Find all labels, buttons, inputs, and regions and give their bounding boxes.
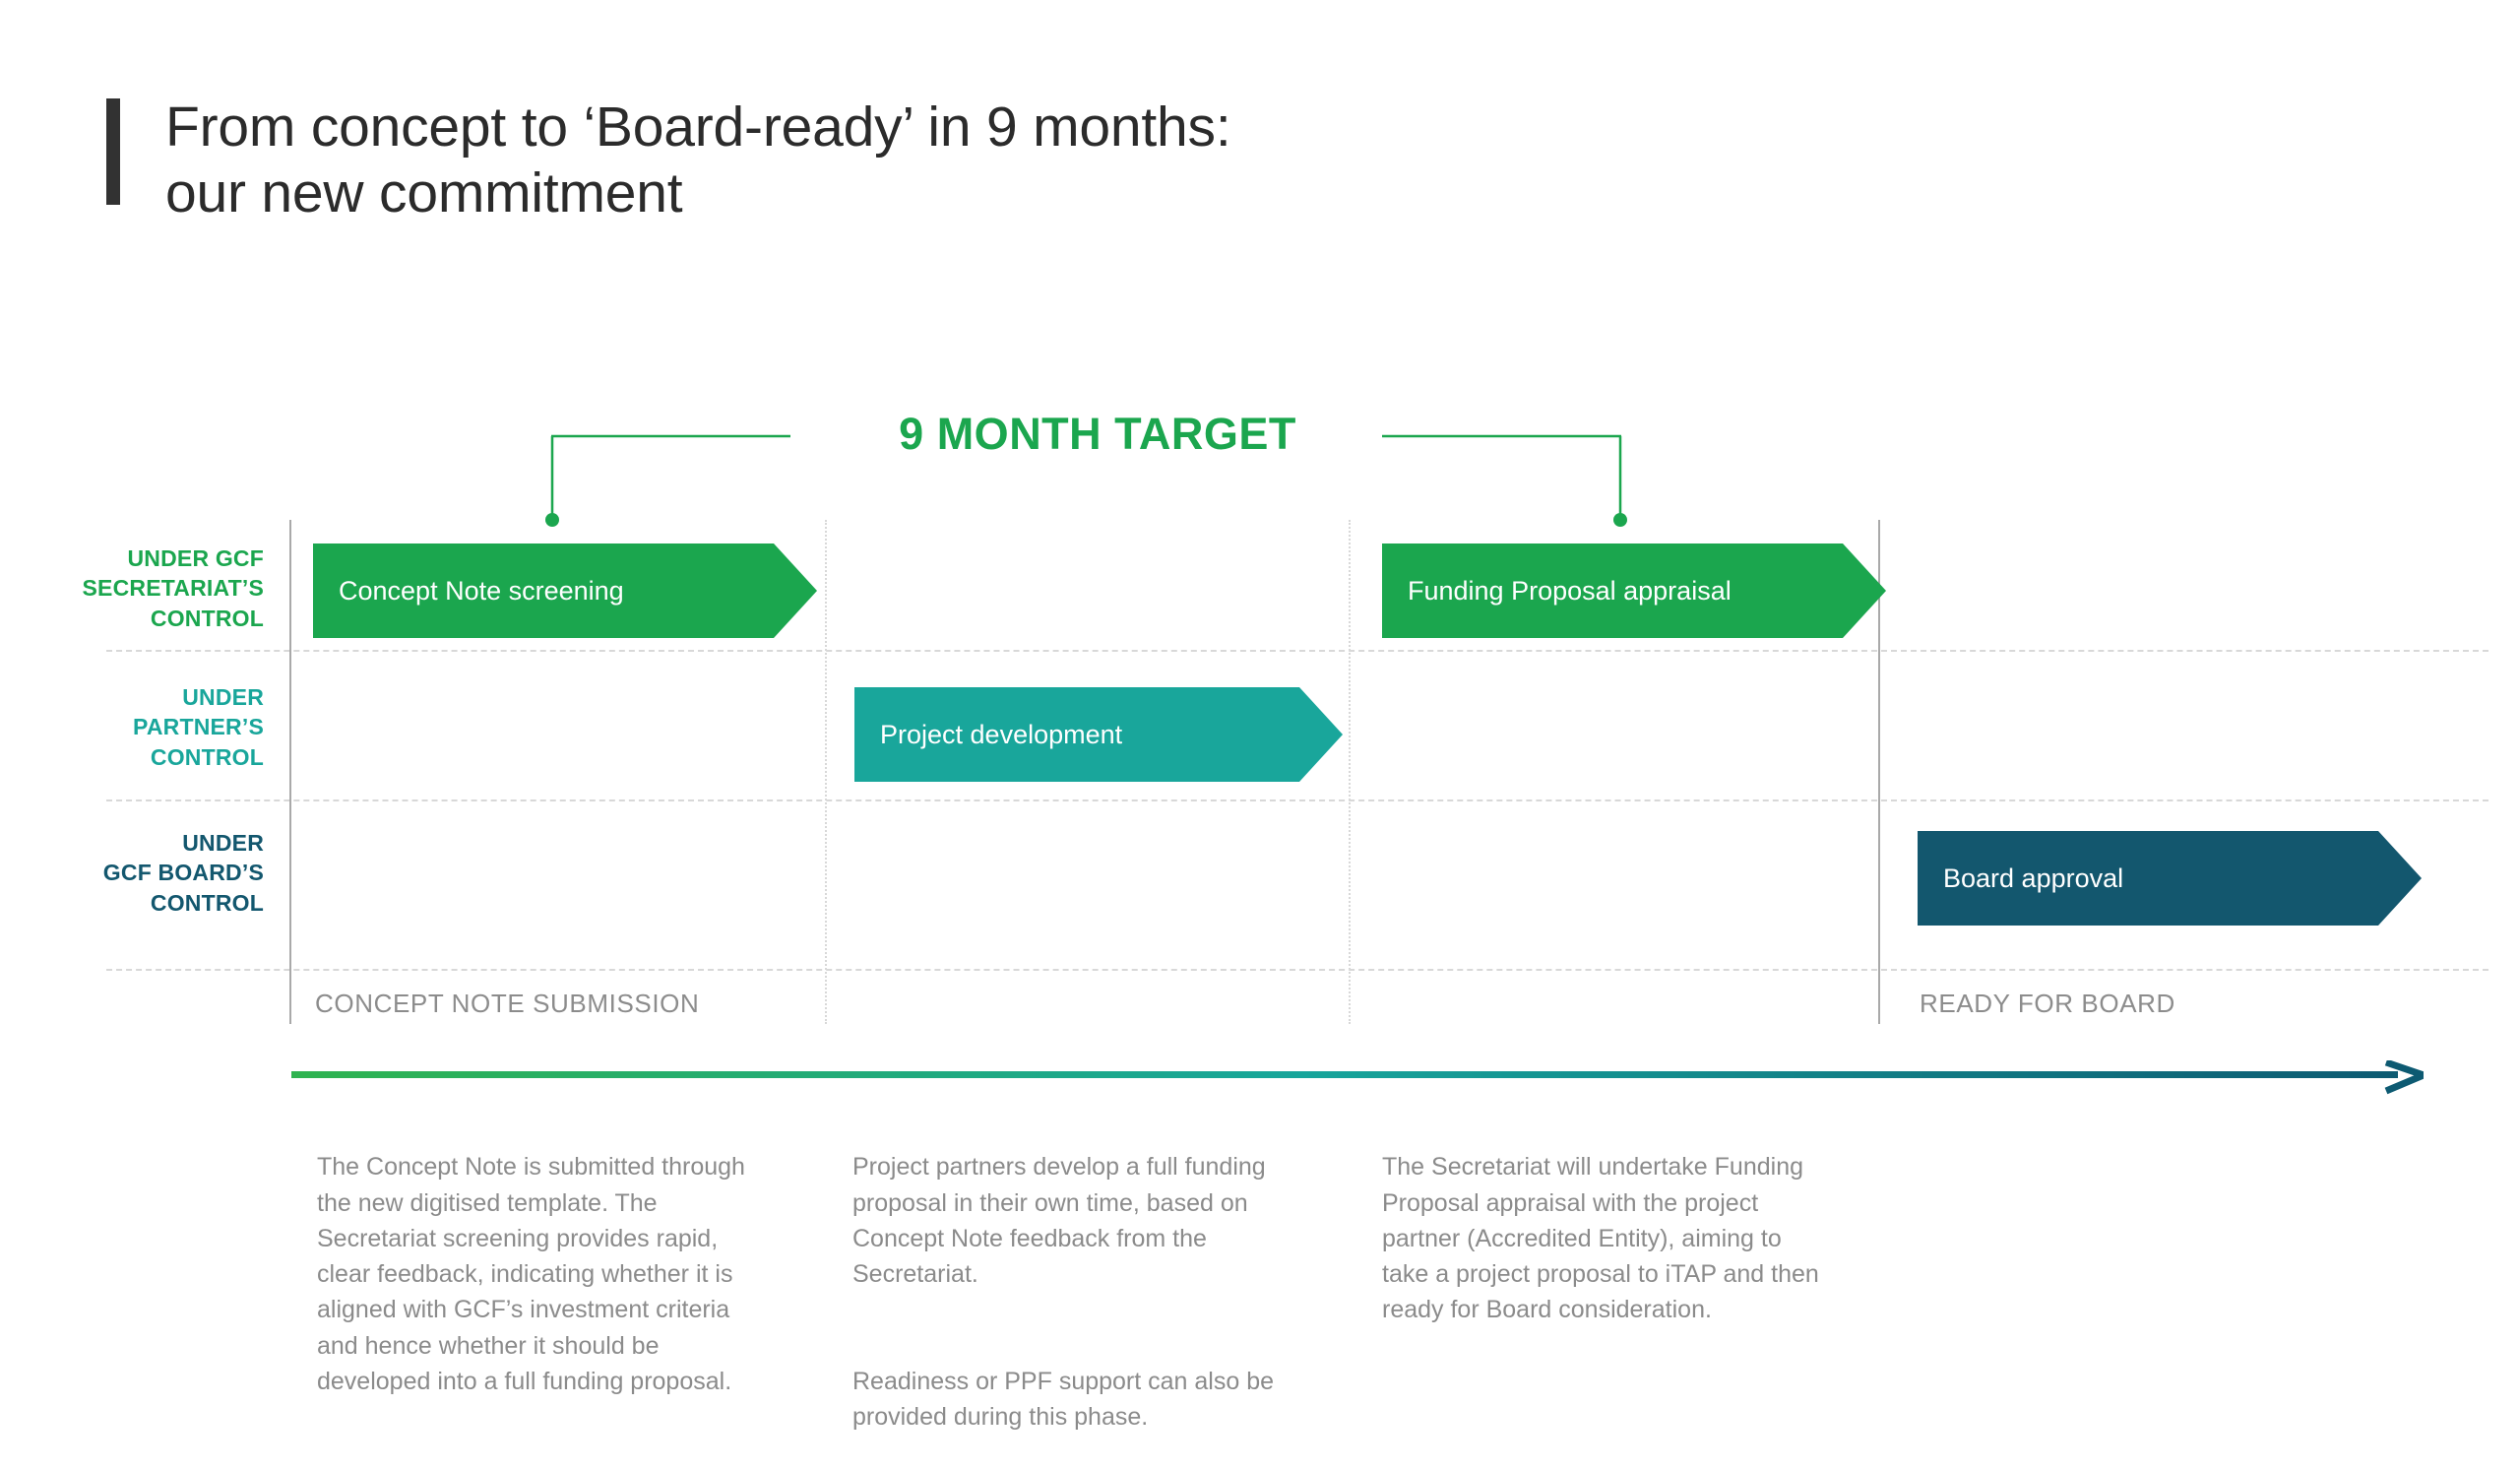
phase-concept-note-screening[interactable]: Concept Note screening xyxy=(313,543,817,638)
phase-project-development[interactable]: Project development xyxy=(854,687,1343,782)
grid-hline-1 xyxy=(106,650,2488,652)
note-column-3: The Secretariat will undertake Funding P… xyxy=(1382,1114,1823,1364)
grid-vline-start xyxy=(289,520,291,1024)
grid-hline-2 xyxy=(106,799,2488,801)
note-column-2: Project partners develop a full funding … xyxy=(852,1114,1276,1470)
row-label-partner: UNDER PARTNER’S CONTROL xyxy=(59,682,264,772)
phase-label: Concept Note screening xyxy=(339,576,624,607)
row-label-secretariat: UNDER GCF SECRETARIAT’S CONTROL xyxy=(59,543,264,633)
grid-vline-d2 xyxy=(1349,520,1351,1024)
phase-label: Project development xyxy=(880,720,1122,750)
phase-funding-proposal-appraisal[interactable]: Funding Proposal appraisal xyxy=(1382,543,1886,638)
phase-label: Funding Proposal appraisal xyxy=(1408,576,1732,607)
grid-hline-3 xyxy=(106,969,2488,971)
milestone-ready-for-board: READY FOR BOARD xyxy=(1920,989,2175,1019)
note-paragraph: Project partners develop a full funding … xyxy=(852,1149,1276,1292)
note-paragraph: The Concept Note is submitted through th… xyxy=(317,1149,762,1399)
phase-board-approval[interactable]: Board approval xyxy=(1918,831,2422,926)
milestone-concept-note-submission: CONCEPT NOTE SUBMISSION xyxy=(315,989,699,1019)
slide-root: From concept to ‘Board-ready’ in 9 month… xyxy=(0,0,2520,1470)
note-paragraph: Readiness or PPF support can also be pro… xyxy=(852,1364,1276,1436)
note-paragraph: The Secretariat will undertake Funding P… xyxy=(1382,1149,1823,1327)
grid-vline-d1 xyxy=(825,520,827,1024)
phase-label: Board approval xyxy=(1943,863,2123,894)
row-label-board: UNDER GCF BOARD’S CONTROL xyxy=(59,828,264,918)
timeline-gradient-arrow xyxy=(291,1060,2424,1096)
nine-month-target-label: 9 MONTH TARGET xyxy=(797,409,1398,460)
note-column-1: The Concept Note is submitted through th… xyxy=(317,1114,762,1435)
